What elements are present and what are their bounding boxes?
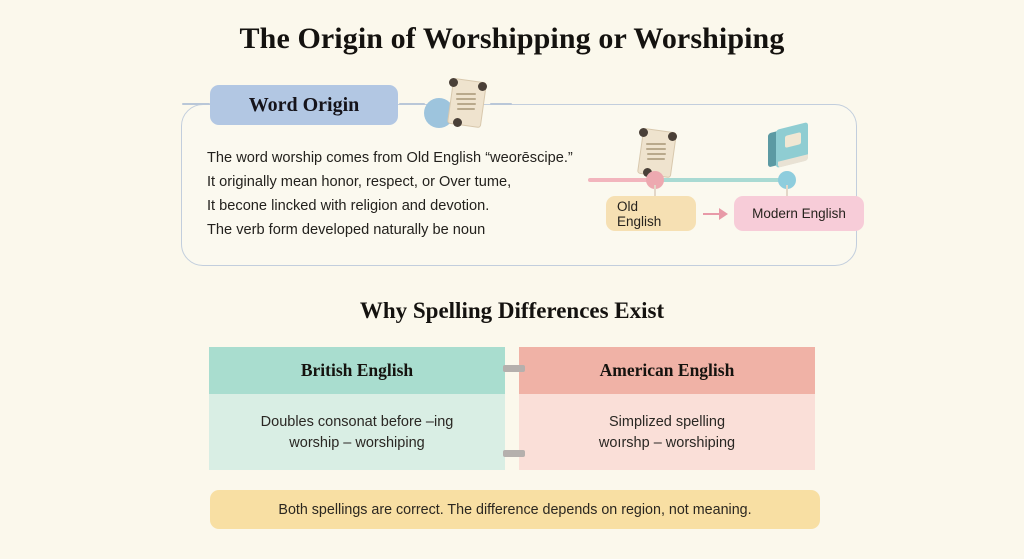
comparison-table: British English Doubles consonat before …	[209, 347, 815, 470]
page-title: The Origin of Worshipping or Worshiping	[0, 22, 1024, 56]
timeline-line-late	[650, 178, 786, 182]
comparison-divider-tab-bottom	[503, 450, 525, 457]
timeline-chip-modern-english: Modern English	[734, 196, 864, 231]
word-origin-badge[interactable]: Word Origin	[210, 85, 398, 125]
comparison-header-british: British English	[209, 347, 505, 394]
summary-note: Both spellings are correct. The differen…	[210, 490, 820, 529]
comparison-column-british: British English Doubles consonat before …	[209, 347, 505, 470]
comparison-american-line-2: woırshp – worshiping	[599, 435, 735, 451]
comparison-body-british: Doubles consonat before –ing worship – w…	[209, 394, 505, 470]
arrow-right-icon	[703, 208, 729, 220]
comparison-column-american: American English Simplized spelling woır…	[519, 347, 815, 470]
word-origin-body-text: The word worship comes from Old English …	[207, 146, 607, 242]
badge-decoration	[424, 76, 494, 134]
book-icon	[766, 124, 814, 170]
section-title: Why Spelling Differences Exist	[0, 298, 1024, 324]
timeline-chip-old-english-label: Old English	[617, 199, 685, 229]
scroll-icon	[438, 76, 490, 132]
badge-connector-dash-left	[182, 103, 210, 105]
comparison-american-line-1: Simplized spelling	[609, 414, 725, 430]
comparison-british-line-2: worship – worshiping	[289, 435, 424, 451]
language-timeline: Old English Modern English	[588, 130, 848, 242]
comparison-body-american: Simplized spelling woırshp – worshiping	[519, 394, 815, 470]
timeline-chip-modern-english-label: Modern English	[752, 206, 846, 221]
comparison-header-american: American English	[519, 347, 815, 394]
badge-connector-dash-right	[399, 103, 425, 105]
comparison-british-line-1: Doubles consonat before –ing	[261, 414, 454, 430]
word-origin-badge-label: Word Origin	[249, 94, 360, 117]
summary-note-text: Both spellings are correct. The differen…	[278, 502, 751, 518]
comparison-divider-tab-top	[503, 365, 525, 372]
timeline-chip-old-english: Old English	[606, 196, 696, 231]
